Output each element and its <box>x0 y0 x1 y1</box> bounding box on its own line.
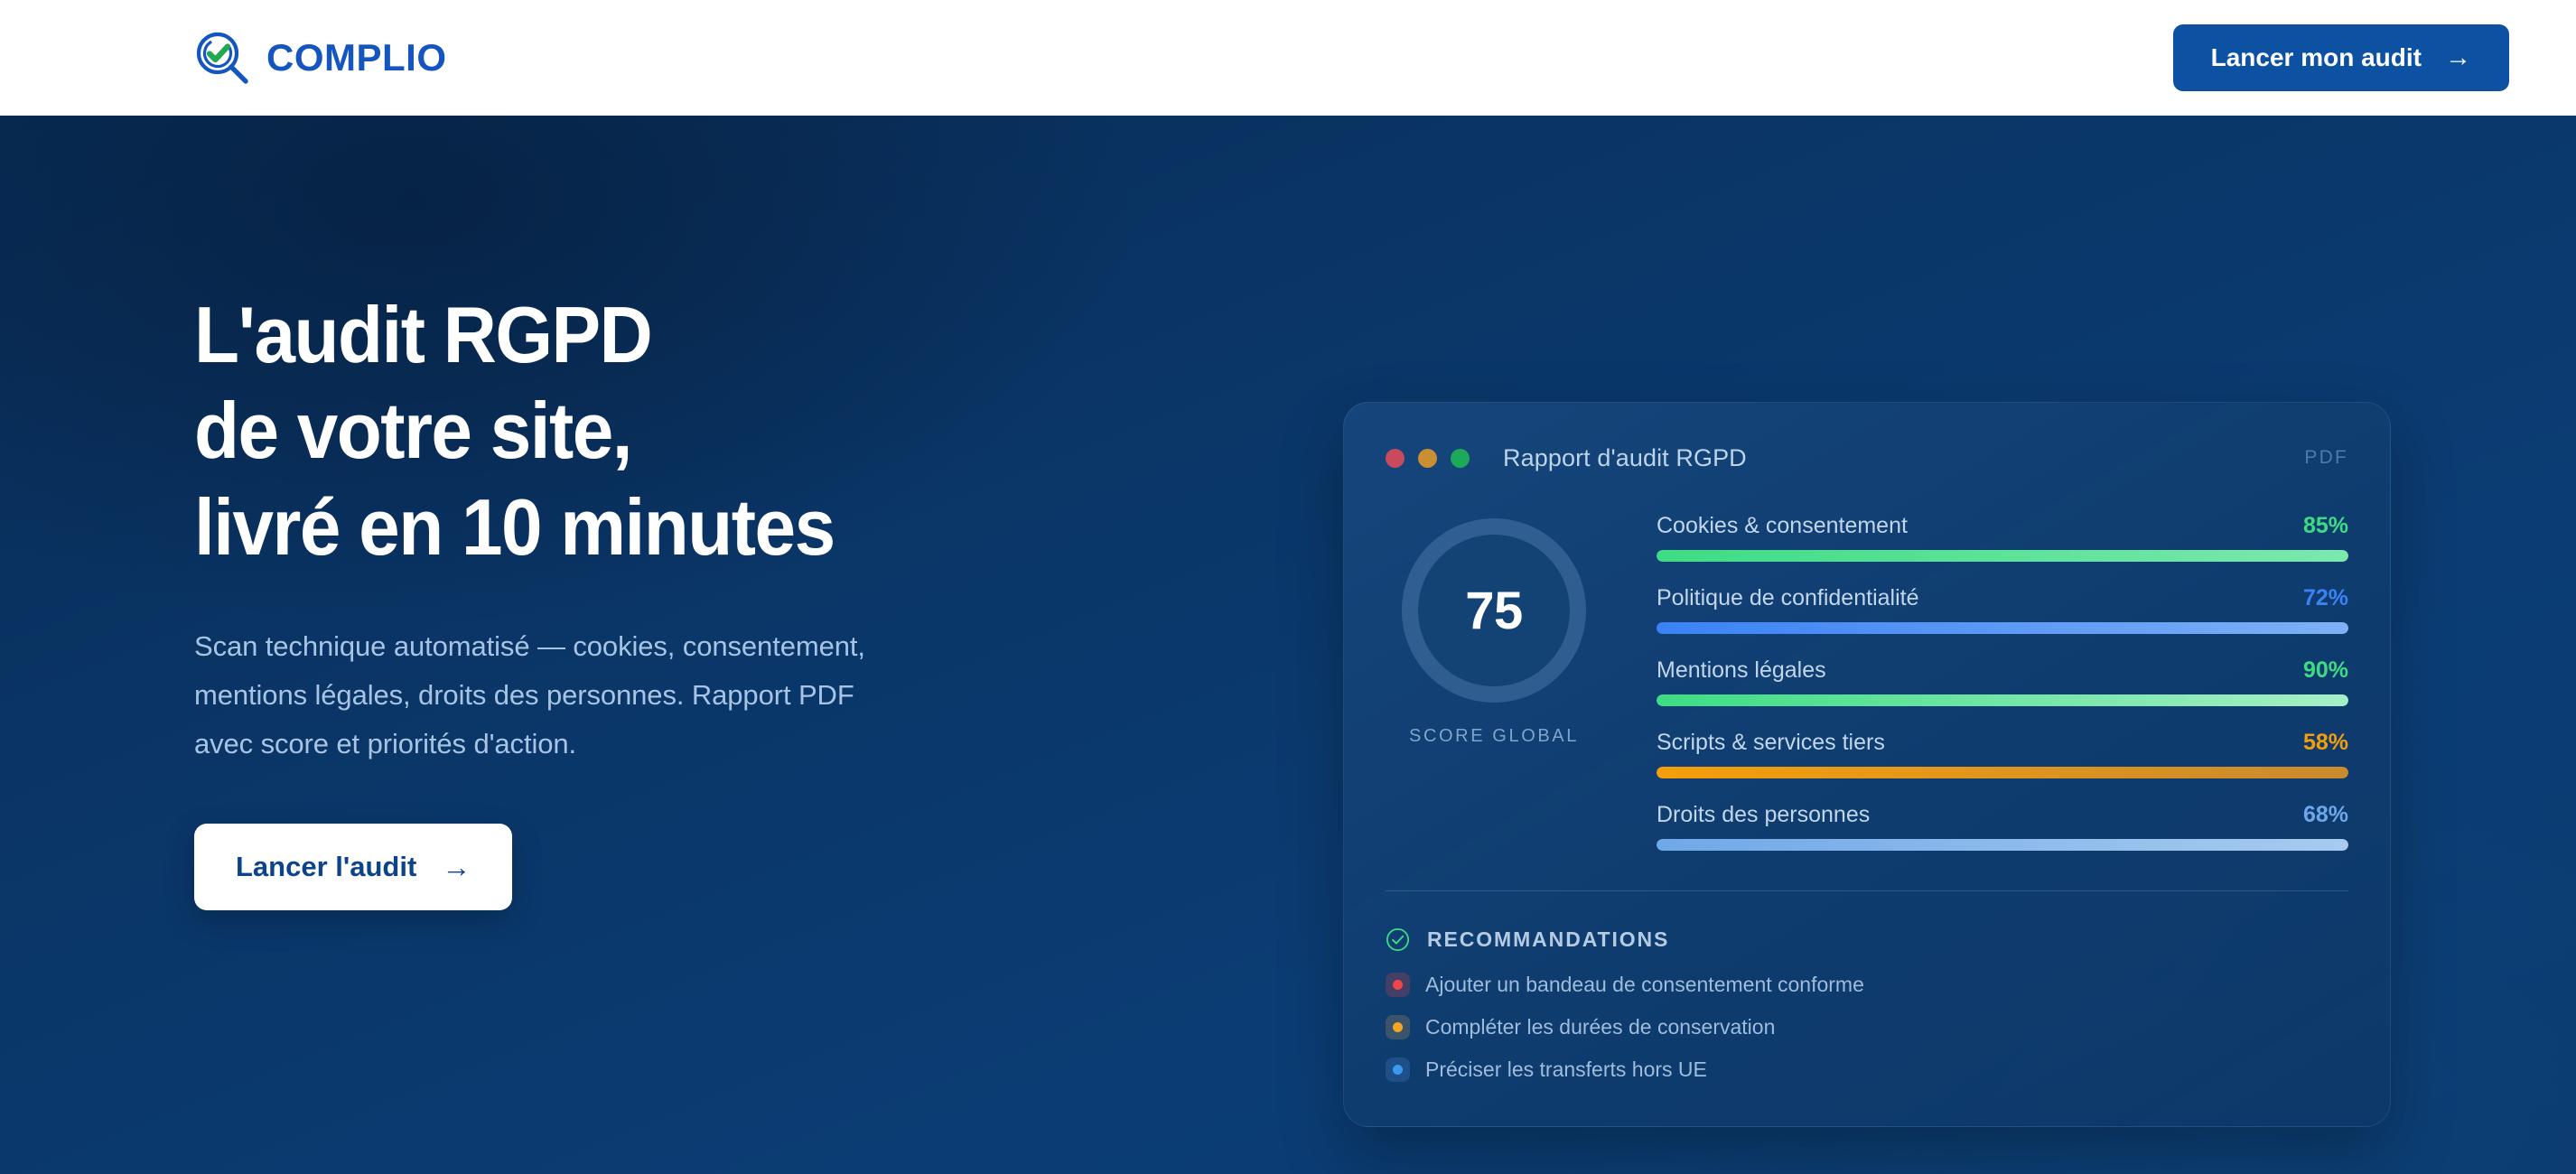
metric-bar-track <box>1657 694 2348 706</box>
recommendation-text: Préciser les transferts hors UE <box>1425 1058 1707 1082</box>
metric-bar-track <box>1657 767 2348 778</box>
section-divider <box>1386 890 2348 891</box>
metric-bar-fill <box>1657 694 2348 706</box>
window-dot-minimize-icon <box>1418 449 1437 468</box>
metric-row: Cookies & consentement85% <box>1657 513 2348 562</box>
metric-header: Droits des personnes68% <box>1657 802 2348 828</box>
metric-row: Politique de confidentialité72% <box>1657 585 2348 634</box>
score-gauge-ring: 75 <box>1402 518 1586 703</box>
metric-row: Mentions légales90% <box>1657 657 2348 706</box>
brand-logo[interactable]: COMPLIO <box>194 30 447 86</box>
metric-bar-fill <box>1657 839 2348 851</box>
metric-bar-track <box>1657 622 2348 634</box>
header-cta-label: Lancer mon audit <box>2211 43 2422 72</box>
recommendations-section: RECOMMANDATIONS Ajouter un bandeau de co… <box>1386 927 2348 1082</box>
recommendations-list: Ajouter un bandeau de consentement confo… <box>1386 973 2348 1082</box>
arrow-right-icon: → <box>2445 45 2471 71</box>
recommendation-item[interactable]: Ajouter un bandeau de consentement confo… <box>1386 973 2348 997</box>
metric-header: Scripts & services tiers58% <box>1657 730 2348 756</box>
metrics-list: Cookies & consentement85%Politique de co… <box>1657 511 2348 851</box>
metric-bar-fill <box>1657 550 2348 562</box>
score-value: 75 <box>1465 581 1523 641</box>
site-header: COMPLIO Lancer mon audit → <box>0 0 2576 116</box>
pdf-format-label: PDF <box>2304 447 2348 469</box>
brand-name: COMPLIO <box>266 36 447 79</box>
card-title: Rapport d'audit RGPD <box>1503 444 1747 472</box>
metric-name: Scripts & services tiers <box>1657 730 1885 756</box>
card-titlebar: Rapport d'audit RGPD PDF <box>1386 443 2348 473</box>
recommendation-item[interactable]: Compléter les durées de conservation <box>1386 1015 2348 1039</box>
recommendation-item[interactable]: Préciser les transferts hors UE <box>1386 1058 2348 1082</box>
metric-bar-track <box>1657 839 2348 851</box>
metric-name: Cookies & consentement <box>1657 513 1908 539</box>
metric-bar-track <box>1657 550 2348 562</box>
metric-name: Droits des personnes <box>1657 802 1870 828</box>
severity-dot-icon <box>1386 1058 1410 1082</box>
landing-page: COMPLIO Lancer mon audit → L'audit RGPD … <box>0 0 2576 1174</box>
window-dot-maximize-icon <box>1451 449 1470 468</box>
recommendation-text: Compléter les durées de conservation <box>1425 1015 1775 1039</box>
score-label: SCORE GLOBAL <box>1409 726 1579 747</box>
metric-percent: 72% <box>2303 585 2348 611</box>
metric-header: Politique de confidentialité72% <box>1657 585 2348 611</box>
severity-dot-icon <box>1386 973 1410 997</box>
metric-percent: 90% <box>2303 657 2348 684</box>
metric-percent: 68% <box>2303 802 2348 828</box>
metric-header: Cookies & consentement85% <box>1657 513 2348 539</box>
page-title: L'audit RGPD de votre site, livré en 10 … <box>194 287 1126 575</box>
metric-row: Droits des personnes68% <box>1657 802 2348 851</box>
metric-header: Mentions légales90% <box>1657 657 2348 684</box>
magnifier-check-icon <box>194 30 250 86</box>
metric-name: Mentions légales <box>1657 657 1826 684</box>
recommendations-header: RECOMMANDATIONS <box>1386 927 2348 952</box>
recommendations-title: RECOMMANDATIONS <box>1427 927 1669 952</box>
check-circle-icon <box>1386 927 1410 952</box>
card-body: 75 SCORE GLOBAL Cookies & consentement85… <box>1386 511 2348 851</box>
hero-cta-label: Lancer l'audit <box>236 851 416 883</box>
header-cta-button[interactable]: Lancer mon audit → <box>2173 24 2509 91</box>
metric-bar-fill <box>1657 767 2348 778</box>
metric-percent: 58% <box>2303 730 2348 756</box>
hero-subtitle: Scan technique automatisé — cookies, con… <box>194 622 1197 768</box>
global-score: 75 SCORE GLOBAL <box>1386 511 1602 747</box>
hero-cta-button[interactable]: Lancer l'audit → <box>194 824 512 910</box>
audit-report-card: Rapport d'audit RGPD PDF 75 SCORE GLOBAL… <box>1343 402 2391 1127</box>
window-dot-close-icon <box>1386 449 1405 468</box>
metric-bar-fill <box>1657 622 2348 634</box>
hero-copy: L'audit RGPD de votre site, livré en 10 … <box>194 287 1197 910</box>
recommendation-text: Ajouter un bandeau de consentement confo… <box>1425 973 1864 997</box>
severity-dot-icon <box>1386 1015 1410 1039</box>
hero-section: L'audit RGPD de votre site, livré en 10 … <box>0 116 2576 1174</box>
arrow-right-icon: → <box>442 853 471 881</box>
metric-row: Scripts & services tiers58% <box>1657 730 2348 778</box>
metric-name: Politique de confidentialité <box>1657 585 1918 611</box>
window-dots <box>1386 449 1470 468</box>
metric-percent: 85% <box>2303 513 2348 539</box>
